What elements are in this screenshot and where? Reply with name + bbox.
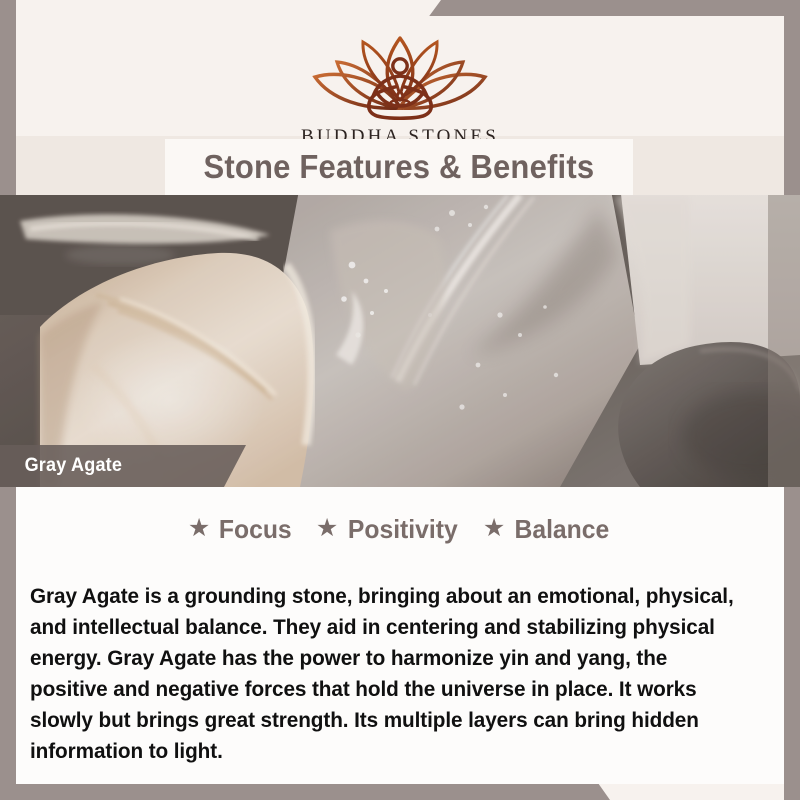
star-icon: ★ xyxy=(316,516,338,541)
star-icon: ★ xyxy=(483,516,505,541)
star-icon: ★ xyxy=(188,516,210,541)
content-card: BUDDHA STONES Stone Features & Benefits xyxy=(16,16,784,784)
title-banner: Stone Features & Benefits xyxy=(165,139,633,195)
benefit-item-positivity: ★ Positivity xyxy=(316,514,461,545)
benefit-item-focus: ★ Focus xyxy=(188,514,294,545)
benefit-item-balance: ★ Balance xyxy=(483,514,612,545)
page-title: Stone Features & Benefits xyxy=(204,148,595,186)
brand-header: BUDDHA STONES xyxy=(16,16,784,154)
benefit-label: Positivity xyxy=(348,514,458,545)
stone-photo: Gray Agate xyxy=(0,195,800,487)
benefit-label: Balance xyxy=(515,514,610,545)
benefits-row: ★ Focus ★ Positivity ★ Balance xyxy=(16,514,784,545)
lotus-meditation-icon xyxy=(305,30,495,122)
info-panel: ★ Focus ★ Positivity ★ Balance Gray Agat… xyxy=(16,487,784,784)
stone-name-label: Gray Agate xyxy=(0,445,246,487)
benefit-label: Focus xyxy=(219,514,292,545)
stone-photo-illustration xyxy=(0,195,800,487)
infographic-page: BUDDHA STONES Stone Features & Benefits xyxy=(0,0,800,800)
stone-description: Gray Agate is a grounding stone, bringin… xyxy=(30,581,748,767)
stone-name: Gray Agate xyxy=(25,455,123,477)
